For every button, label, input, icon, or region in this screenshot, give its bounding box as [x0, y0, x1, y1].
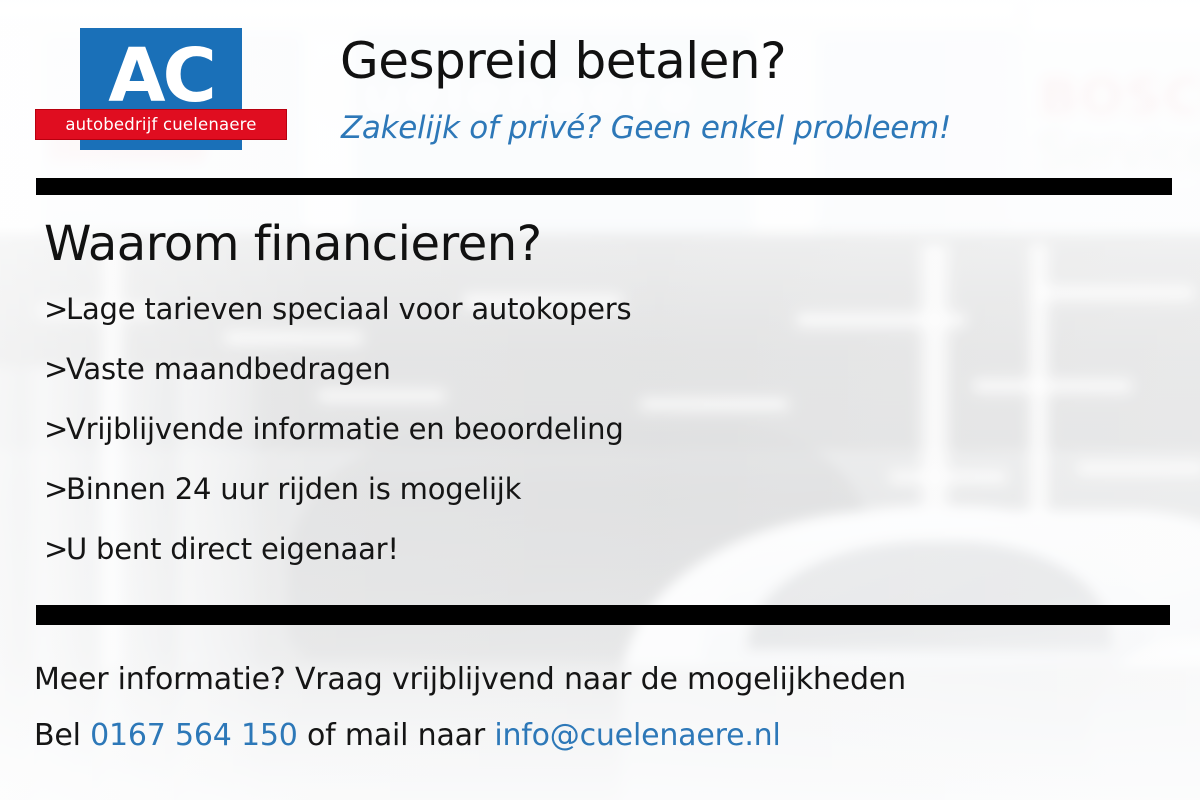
section-heading: Waarom financieren?: [44, 216, 542, 272]
list-item-label: Vrijblijvende informatie en beoordeling: [66, 412, 624, 446]
company-logo[interactable]: AC autobedrijf cuelenaere: [35, 28, 287, 150]
divider-top: [36, 178, 1172, 195]
call-prefix-label: Bel: [34, 718, 90, 753]
list-item-label: Lage tarieven speciaal voor autokopers: [66, 292, 631, 326]
chevron-right-icon: >: [44, 472, 66, 506]
email-address-link[interactable]: info@cuelenaere.nl: [494, 718, 780, 753]
page-subtitle: Zakelijk of privé? Geen enkel probleem!: [341, 110, 951, 146]
benefits-list: > Lage tarieven speciaal voor autokopers…: [44, 292, 944, 592]
list-item: > Lage tarieven speciaal voor autokopers: [44, 292, 944, 352]
list-item: > U bent direct eigenaar!: [44, 532, 944, 592]
mail-connector-label: of mail naar: [298, 718, 495, 753]
logo-tagline-bar: autobedrijf cuelenaere: [35, 109, 287, 140]
list-item-label: U bent direct eigenaar!: [66, 532, 399, 566]
list-item: > Binnen 24 uur rijden is mogelijk: [44, 472, 944, 532]
chevron-right-icon: >: [44, 412, 66, 446]
contact-footer: Meer informatie? Vraag vrijblijvend naar…: [34, 662, 906, 774]
footer-info-line: Meer informatie? Vraag vrijblijvend naar…: [34, 662, 906, 718]
chevron-right-icon: >: [44, 292, 66, 326]
chevron-right-icon: >: [44, 532, 66, 566]
footer-contact-line: Bel 0167 564 150 of mail naar info@cuele…: [34, 718, 906, 774]
phone-number-link[interactable]: 0167 564 150: [90, 718, 298, 753]
page-title: Gespreid betalen?: [340, 32, 786, 90]
list-item: > Vaste maandbedragen: [44, 352, 944, 412]
financing-promo-banner: Cuelenaere BOSCH Service: [0, 0, 1200, 800]
chevron-right-icon: >: [44, 352, 66, 386]
list-item-label: Vaste maandbedragen: [66, 352, 391, 386]
banner-content: AC autobedrijf cuelenaere Gespreid betal…: [0, 0, 1200, 800]
list-item-label: Binnen 24 uur rijden is mogelijk: [66, 472, 521, 506]
list-item: > Vrijblijvende informatie en beoordelin…: [44, 412, 944, 472]
divider-bottom: [36, 605, 1170, 625]
